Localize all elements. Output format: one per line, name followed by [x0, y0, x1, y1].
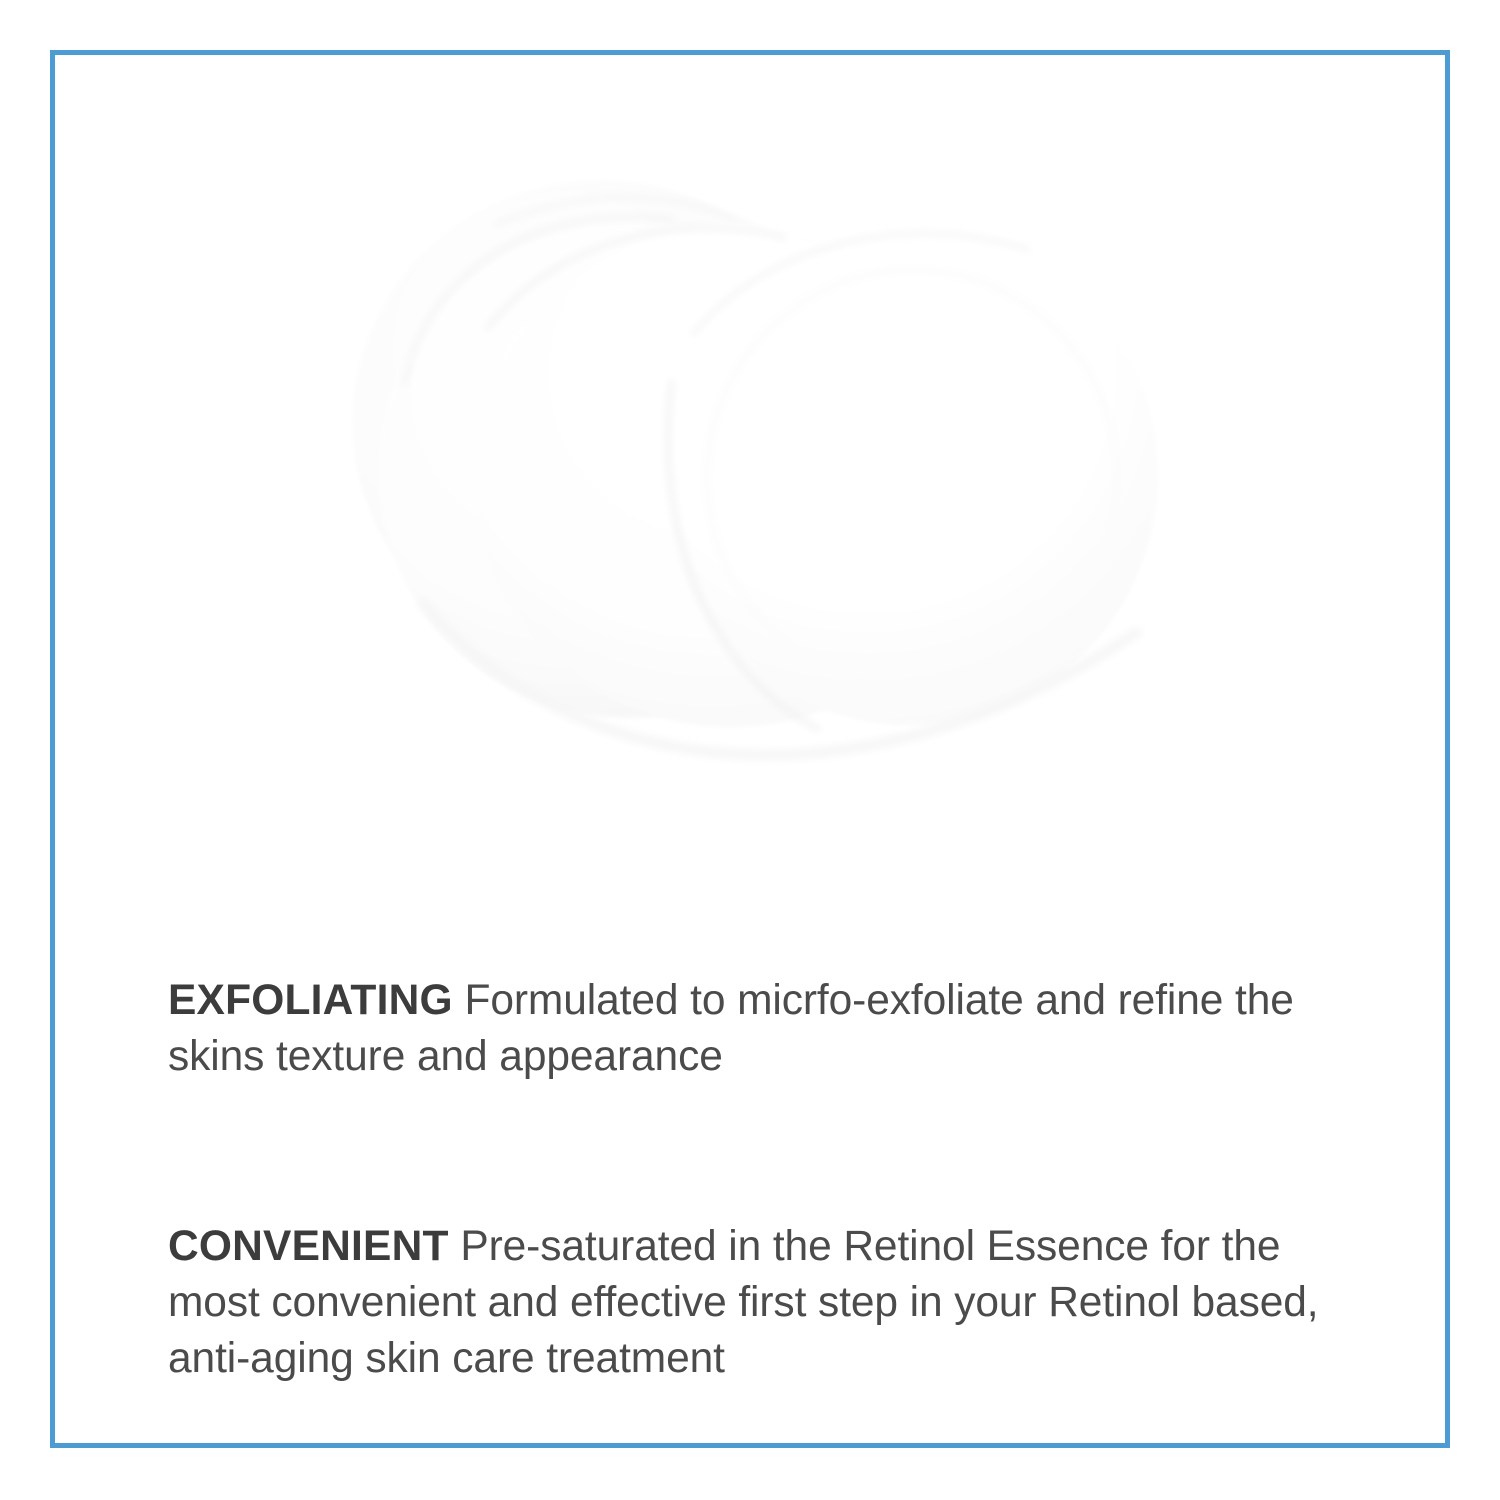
product-image-cotton-pads — [300, 130, 1200, 790]
product-feature-panel: EXFOLIATING Formulated to micrfo-exfolia… — [0, 0, 1500, 1500]
feature-text-exfoliating: EXFOLIATING Formulated to micrfo-exfolia… — [168, 973, 1323, 1085]
feature-lead-exfoliating: EXFOLIATING — [168, 977, 453, 1024]
feature-text-convenient: CONVENIENT Pre-saturated in the Retinol … — [168, 1219, 1323, 1387]
feature-lead-convenient: CONVENIENT — [168, 1223, 449, 1270]
